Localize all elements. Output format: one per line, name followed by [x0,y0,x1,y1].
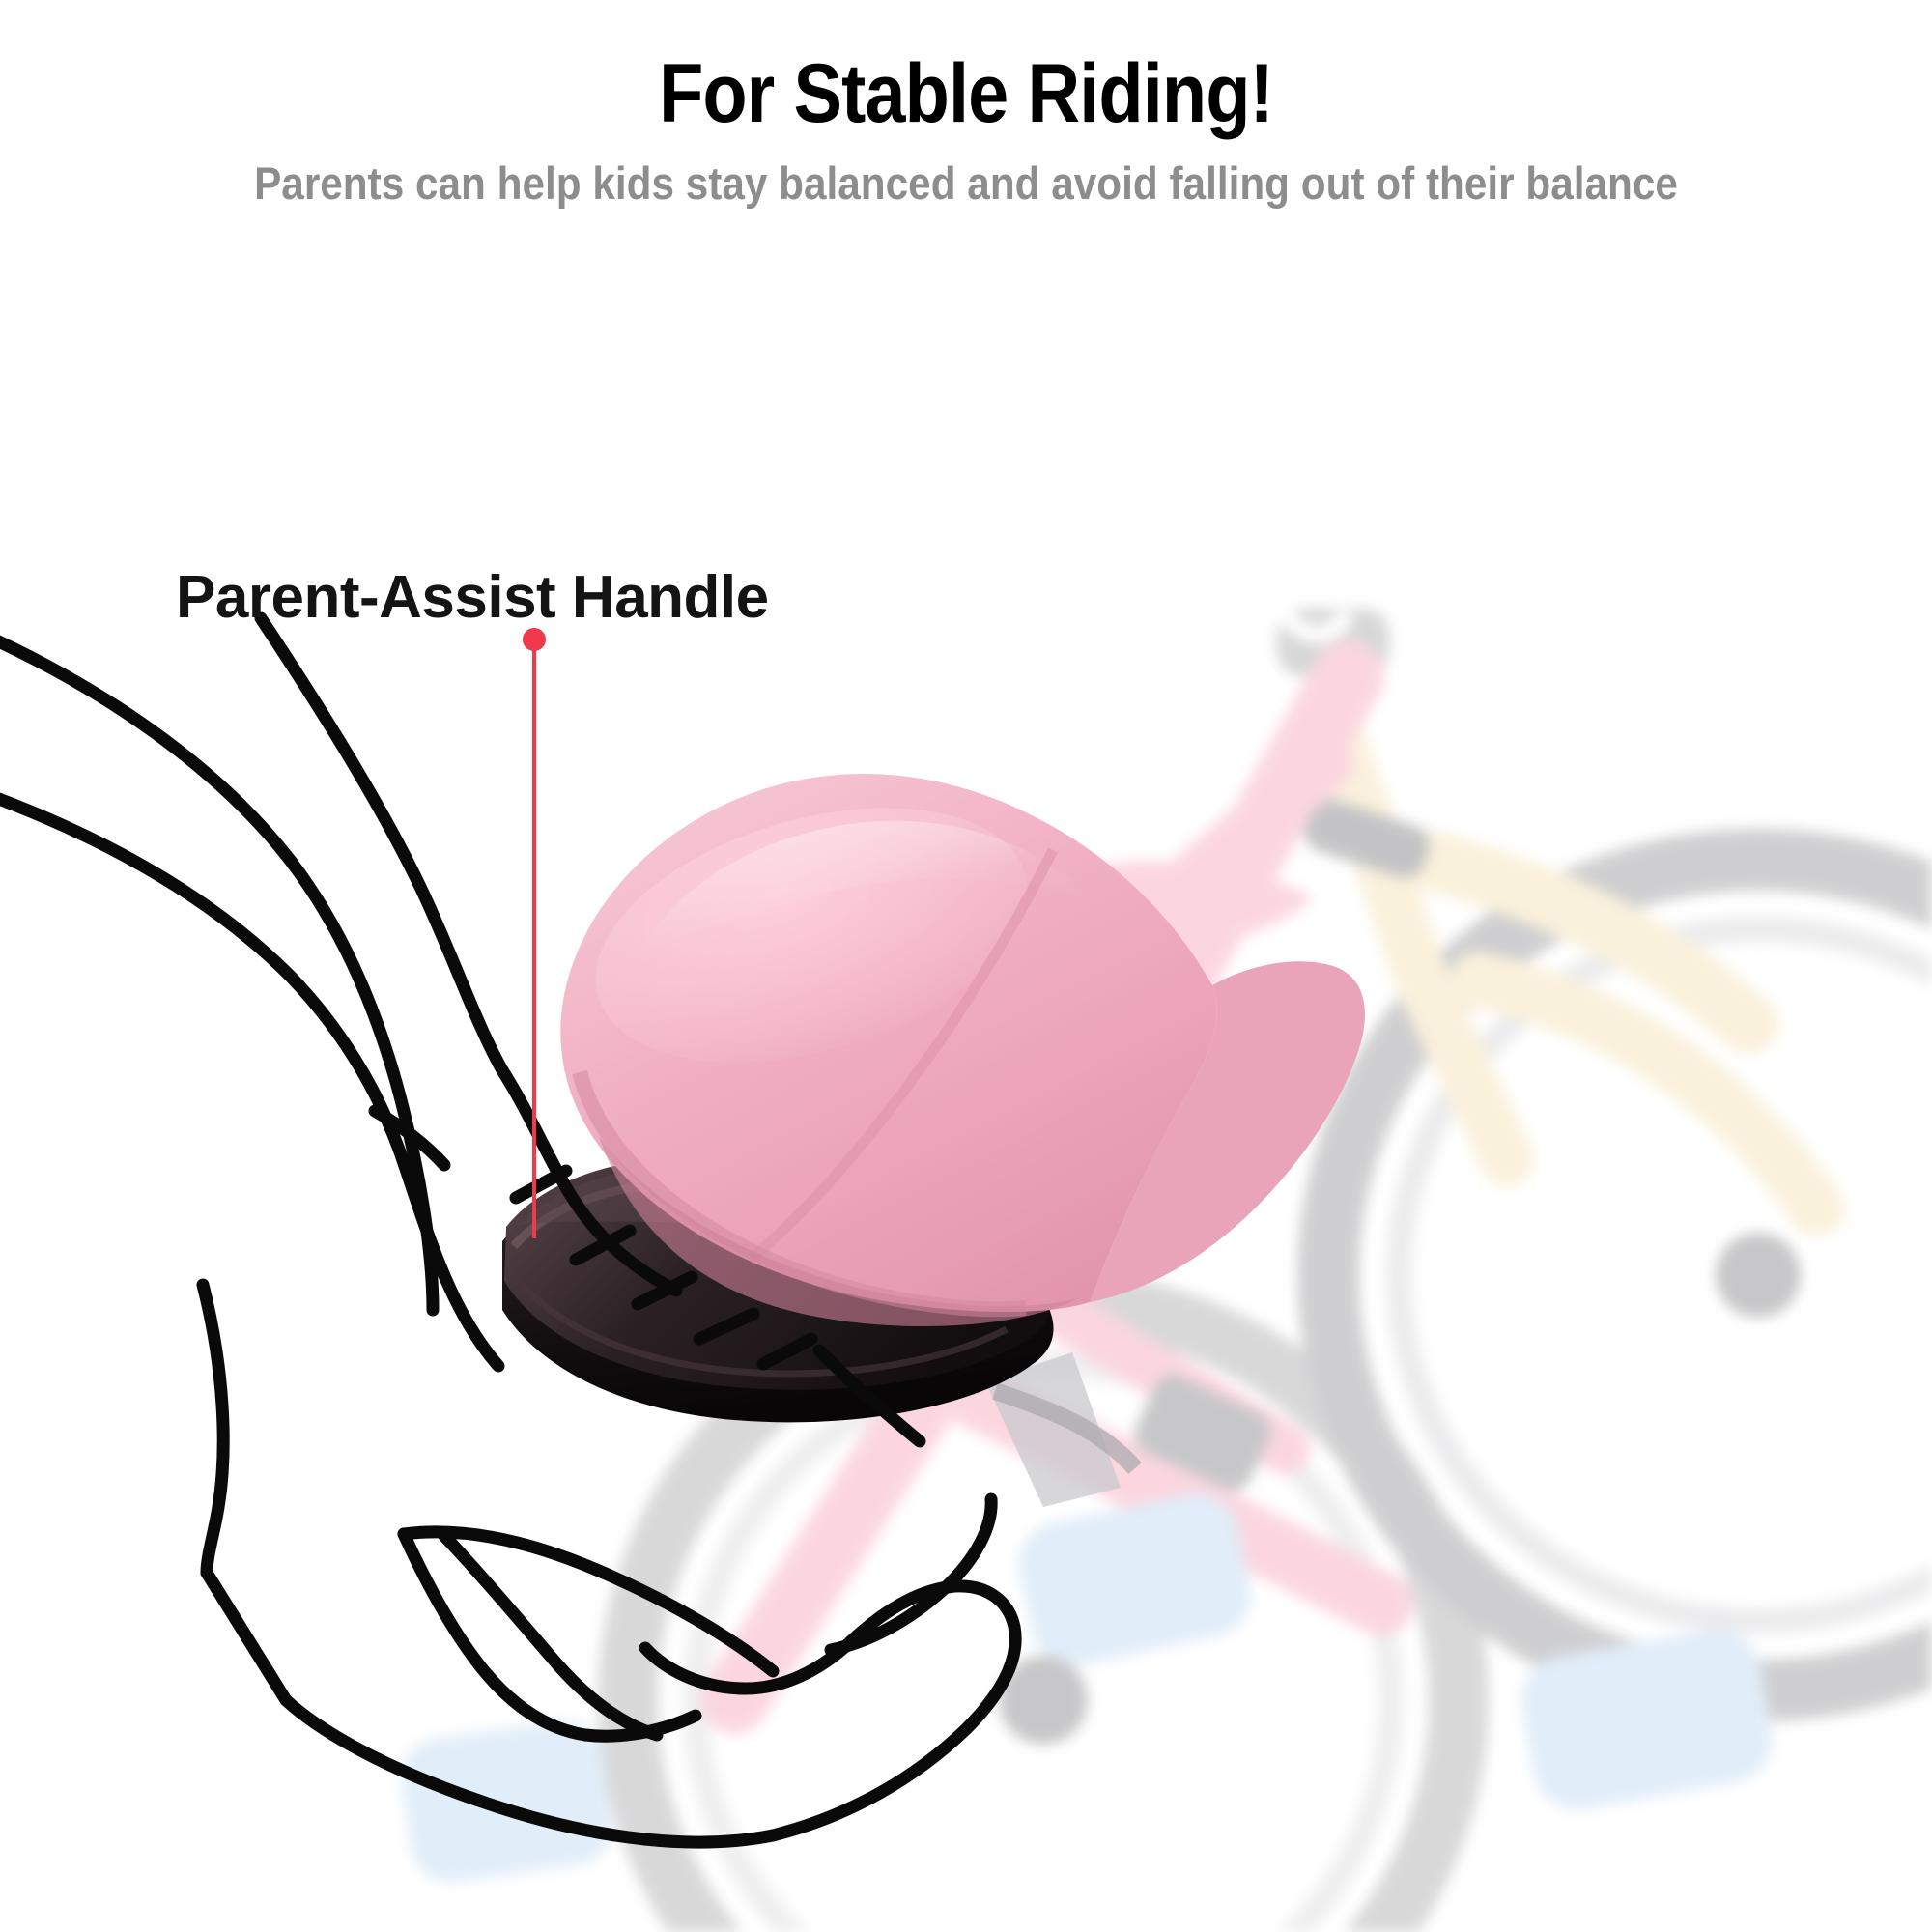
hub-parts [999,1233,1801,1745]
parent-assist-handle [502,1155,1054,1422]
bike-fork [1337,734,1816,1207]
page-title: For Stable Riding! [116,0,1816,137]
bike-frame [734,676,1381,1700]
poster-canvas: For Stable Riding! Parents can help kids… [0,0,1932,1932]
seat-post [985,1352,1135,1507]
hand-line-drawing [0,0,1932,1932]
footrest-icon [397,1486,1779,1888]
front-wheel-icon [1328,860,1932,1690]
stem-collar [1277,609,1435,884]
callout-leader-line [532,643,536,1238]
background-bike-illustration [0,0,1932,1932]
bicycle-saddle [560,762,1365,1326]
background-saddle [1053,861,1314,956]
page-subtitle: Parents can help kids stay balanced and … [97,137,1835,209]
product-photo-saddle-and-handle [0,0,1932,1932]
header-block: For Stable Riding! Parents can help kids… [0,0,1932,209]
callout-label-parent-assist-handle: Parent-Assist Handle [176,563,769,632]
rear-wheel-icon [628,1299,1459,1932]
